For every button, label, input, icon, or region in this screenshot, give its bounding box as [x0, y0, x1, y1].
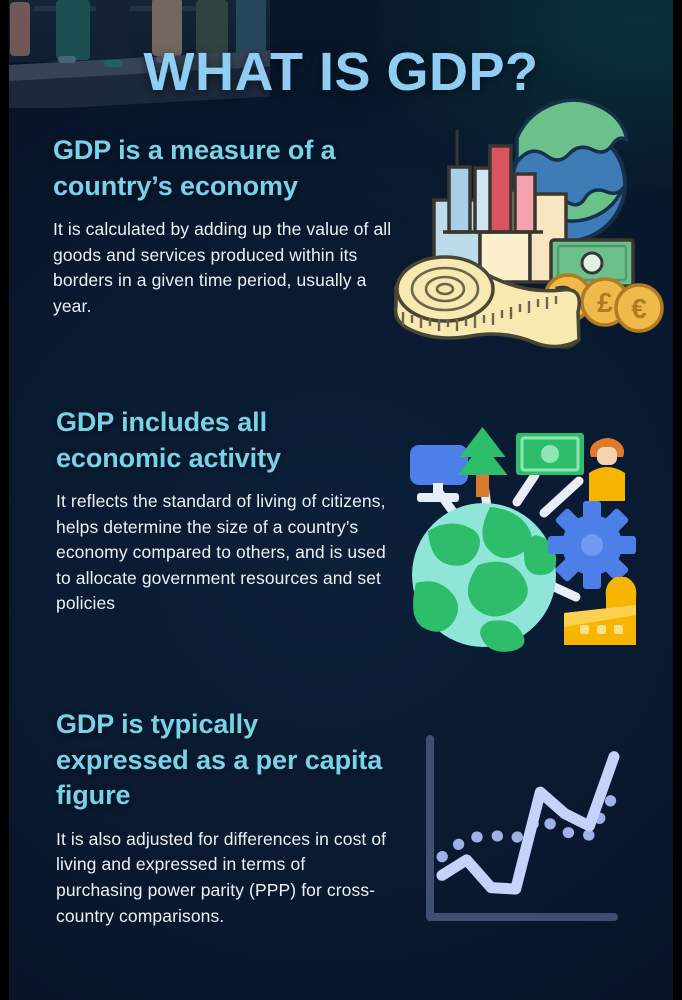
growth-line-chart-illustration [418, 735, 648, 940]
right-edge-bar [673, 0, 682, 1000]
svg-text:£: £ [597, 287, 613, 318]
page-title: WHAT IS GDP? [0, 44, 682, 101]
section-1-heading: GDP is a measure of a country’s economy [53, 133, 393, 204]
section-3-body: It is also adjusted for differences in c… [56, 827, 396, 929]
section-2-body: It reflects the standard of living of ci… [56, 489, 396, 617]
person-icon [589, 438, 625, 501]
section-2-heading: GDP includes all economic activity [56, 405, 396, 476]
banknote-icon [516, 433, 584, 475]
section-per-capita: GDP is typically expressed as a per capi… [56, 707, 396, 929]
section-1-body: It is calculated by adding up the value … [53, 217, 393, 319]
section-economic-activity: GDP includes all economic activity It re… [56, 405, 396, 617]
section-gdp-measure: GDP is a measure of a country’s economy … [53, 133, 393, 319]
gdp-measure-illustration: $ £ € [393, 112, 665, 357]
infographic-poster: WHAT IS GDP? GDP is a measure of a count… [0, 0, 682, 1000]
economic-activity-illustration [404, 425, 654, 660]
left-edge-bar [0, 0, 9, 1000]
section-3-heading: GDP is typically expressed as a per capi… [56, 707, 396, 814]
solid-trend-line [442, 757, 614, 889]
globe-icon [412, 503, 556, 652]
coin-euro-icon: € [616, 285, 662, 331]
gear-icon [548, 501, 636, 589]
svg-text:€: € [631, 293, 647, 324]
